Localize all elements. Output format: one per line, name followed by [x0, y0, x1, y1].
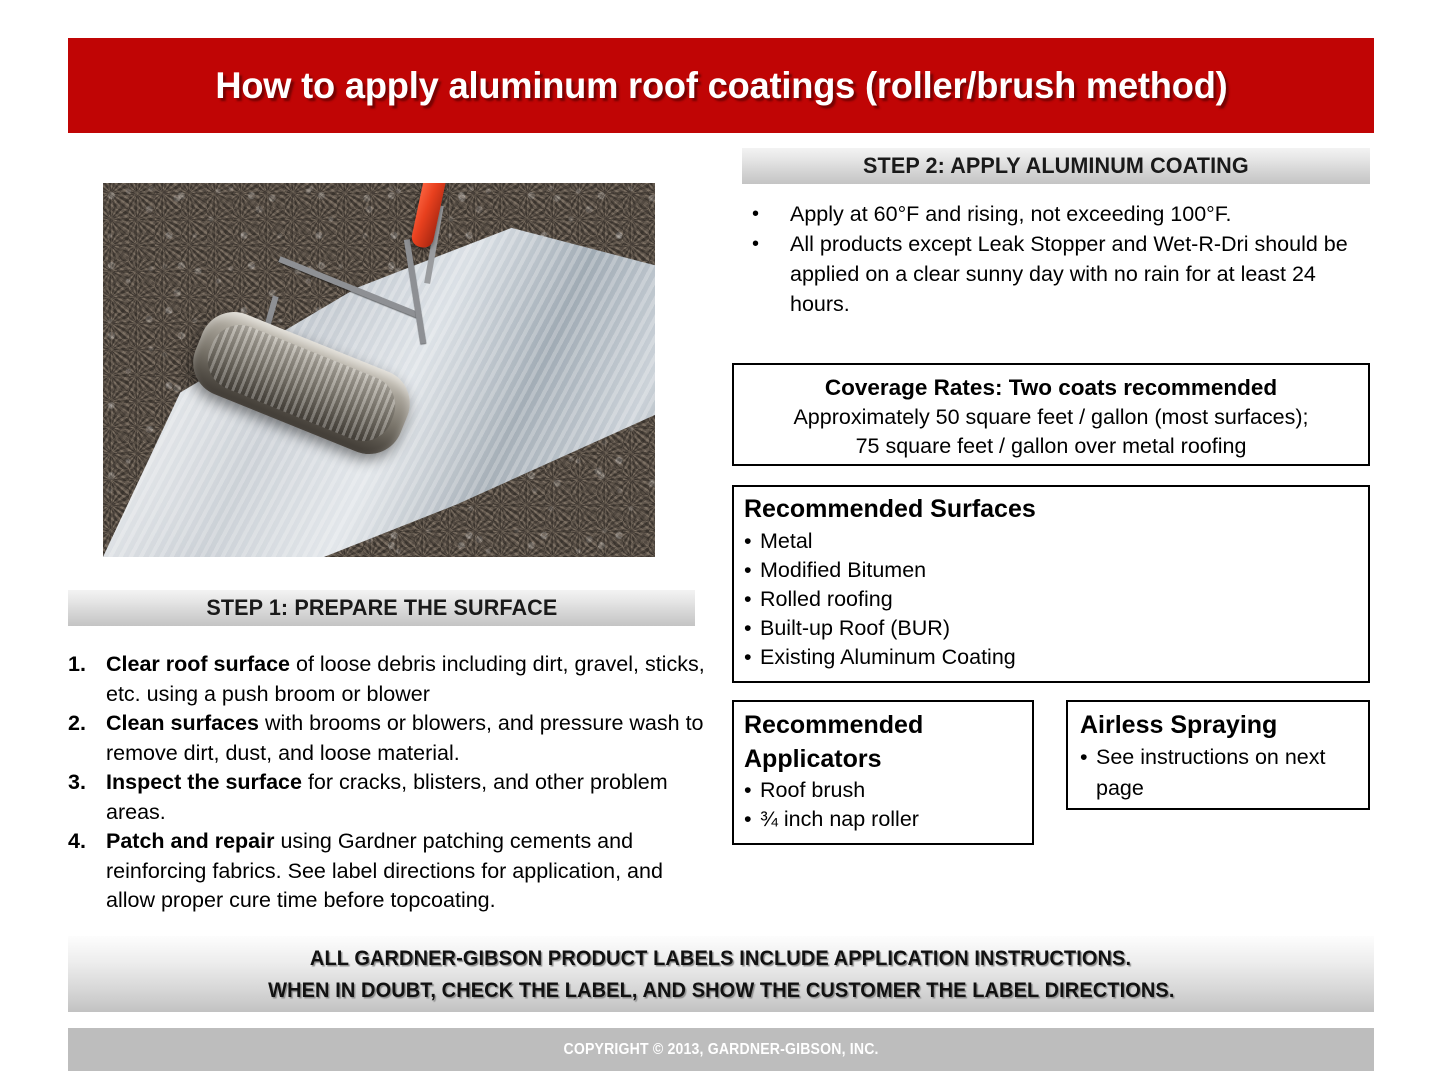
list-item-number: 1.: [68, 650, 106, 680]
bullet-icon: •: [744, 614, 760, 643]
notice-banner: ALL GARDNER-GIBSON PRODUCT LABELS INCLUD…: [68, 936, 1374, 1012]
bullet-icon: •: [744, 643, 760, 672]
list-item-text: ¾ inch nap roller: [760, 805, 1032, 834]
page-title-banner: How to apply aluminum roof coatings (rol…: [68, 38, 1374, 133]
notice-line-2: WHEN IN DOUBT, CHECK THE LABEL, AND SHOW…: [268, 974, 1174, 1006]
step2-bullet-list: • Apply at 60°F and rising, not exceedin…: [752, 199, 1362, 319]
list-item: • Roof brush: [744, 776, 1032, 805]
step1-header: STEP 1: PREPARE THE SURFACE: [68, 590, 695, 626]
coverage-rates-title: Coverage Rates: Two coats recommended: [734, 373, 1368, 403]
list-item-text: Roof brush: [760, 776, 1032, 805]
list-item-number: 3.: [68, 768, 106, 798]
list-item: • Modified Bitumen: [744, 556, 1368, 585]
list-item-text: Clean surfaces with brooms or blowers, a…: [106, 709, 708, 768]
list-item-text: Patch and repair using Gardner patching …: [106, 827, 708, 916]
notice-line-1: ALL GARDNER-GIBSON PRODUCT LABELS INCLUD…: [310, 942, 1131, 974]
step1-numbered-list: 1. Clear roof surface of loose debris in…: [68, 650, 708, 916]
list-item-number: 4.: [68, 827, 106, 857]
list-item-text: Metal: [760, 527, 1368, 556]
coverage-rates-box: Coverage Rates: Two coats recommended Ap…: [732, 363, 1370, 466]
list-item: • All products except Leak Stopper and W…: [752, 229, 1362, 319]
bullet-icon: •: [744, 556, 760, 585]
bullet-icon: •: [752, 229, 790, 259]
bullet-icon: •: [744, 585, 760, 614]
list-item-text: Inspect the surface for cracks, blisters…: [106, 768, 708, 827]
list-item-text: See instructions on next page: [1096, 742, 1368, 804]
list-item-text: Apply at 60°F and rising, not exceeding …: [790, 199, 1362, 229]
list-item: • Built-up Roof (BUR): [744, 614, 1368, 643]
airless-spraying-box: Airless Spraying • See instructions on n…: [1066, 700, 1370, 810]
copyright-text: COPYRIGHT © 2013, GARDNER-GIBSON, INC.: [563, 1041, 878, 1059]
list-item: • Apply at 60°F and rising, not exceedin…: [752, 199, 1362, 229]
list-item-text: All products except Leak Stopper and Wet…: [790, 229, 1362, 319]
coverage-rates-line-2: 75 square feet / gallon over metal roofi…: [734, 432, 1368, 461]
list-item-lead: Clear roof surface: [106, 652, 290, 676]
list-item-lead: Inspect the surface: [106, 770, 302, 794]
airless-spraying-title: Airless Spraying: [1080, 708, 1368, 742]
recommended-surfaces-title: Recommended Surfaces: [744, 493, 1368, 526]
list-item: • Metal: [744, 527, 1368, 556]
bullet-icon: •: [744, 805, 760, 834]
list-item-text: Built-up Roof (BUR): [760, 614, 1368, 643]
copyright-footer: COPYRIGHT © 2013, GARDNER-GIBSON, INC.: [68, 1028, 1374, 1071]
list-item: 3. Inspect the surface for cracks, blist…: [68, 768, 708, 827]
recommended-surfaces-box: Recommended Surfaces • Metal • Modified …: [732, 485, 1370, 683]
list-item-text: Existing Aluminum Coating: [760, 643, 1368, 672]
list-item: 2. Clean surfaces with brooms or blowers…: [68, 709, 708, 768]
list-item-text: Modified Bitumen: [760, 556, 1368, 585]
coverage-rates-line-1: Approximately 50 square feet / gallon (m…: [734, 403, 1368, 432]
list-item: 1. Clear roof surface of loose debris in…: [68, 650, 708, 709]
step2-header-label: STEP 2: APPLY ALUMINUM COATING: [863, 153, 1249, 179]
list-item-number: 2.: [68, 709, 106, 739]
roller-application-photo: [103, 183, 655, 557]
recommended-applicators-title-line-2: Applicators: [744, 742, 1032, 776]
list-item: • ¾ inch nap roller: [744, 805, 1032, 834]
list-item: • See instructions on next page: [1080, 742, 1368, 804]
list-item-text: Rolled roofing: [760, 585, 1368, 614]
step1-header-label: STEP 1: PREPARE THE SURFACE: [206, 595, 557, 621]
page-title: How to apply aluminum roof coatings (rol…: [215, 65, 1227, 107]
list-item: • Rolled roofing: [744, 585, 1368, 614]
step2-header: STEP 2: APPLY ALUMINUM COATING: [742, 148, 1370, 184]
recommended-applicators-box: Recommended Applicators • Roof brush • ¾…: [732, 700, 1034, 845]
list-item-lead: Patch and repair: [106, 829, 274, 853]
list-item-text: Clear roof surface of loose debris inclu…: [106, 650, 708, 709]
recommended-applicators-title-line-1: Recommended: [744, 708, 1032, 742]
bullet-icon: •: [744, 527, 760, 556]
list-item: • Existing Aluminum Coating: [744, 643, 1368, 672]
bullet-icon: •: [1080, 742, 1096, 773]
bullet-icon: •: [752, 199, 790, 229]
bullet-icon: •: [744, 776, 760, 805]
list-item-lead: Clean surfaces: [106, 711, 259, 735]
list-item: 4. Patch and repair using Gardner patchi…: [68, 827, 708, 916]
